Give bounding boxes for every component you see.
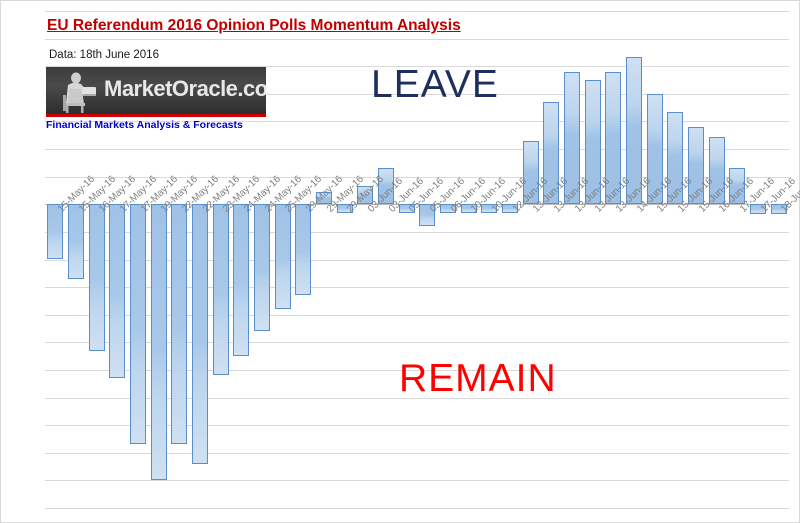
bar — [295, 204, 311, 295]
gridline — [45, 508, 789, 509]
bar — [130, 204, 146, 444]
bar — [254, 204, 270, 331]
bar — [68, 204, 84, 279]
leave-annotation: LEAVE — [371, 63, 499, 107]
bar — [213, 204, 229, 375]
bar — [89, 204, 105, 350]
bar — [171, 204, 187, 444]
page-title: EU Referendum 2016 Opinion Polls Momentu… — [47, 17, 461, 35]
brand-logo: MarketOracle.co.uk Financial Markets Ana… — [46, 67, 266, 131]
logo-tagline: Financial Markets Analysis & Forecasts — [46, 119, 266, 131]
person-at-desk-icon — [52, 70, 104, 114]
bar — [275, 204, 291, 309]
bar — [233, 204, 249, 356]
data-date-note: Data: 18th June 2016 — [49, 49, 159, 61]
bar — [151, 204, 167, 480]
logo-bar: MarketOracle.co.uk — [46, 67, 266, 117]
bar — [192, 204, 208, 464]
chart-container: 76543210-1-2-3-4-5-6-7-8-9-10-11 15-May-… — [0, 0, 800, 523]
logo-wordmark: MarketOracle.co.uk — [104, 76, 266, 102]
bar — [109, 204, 125, 378]
remain-annotation: REMAIN — [399, 357, 557, 401]
